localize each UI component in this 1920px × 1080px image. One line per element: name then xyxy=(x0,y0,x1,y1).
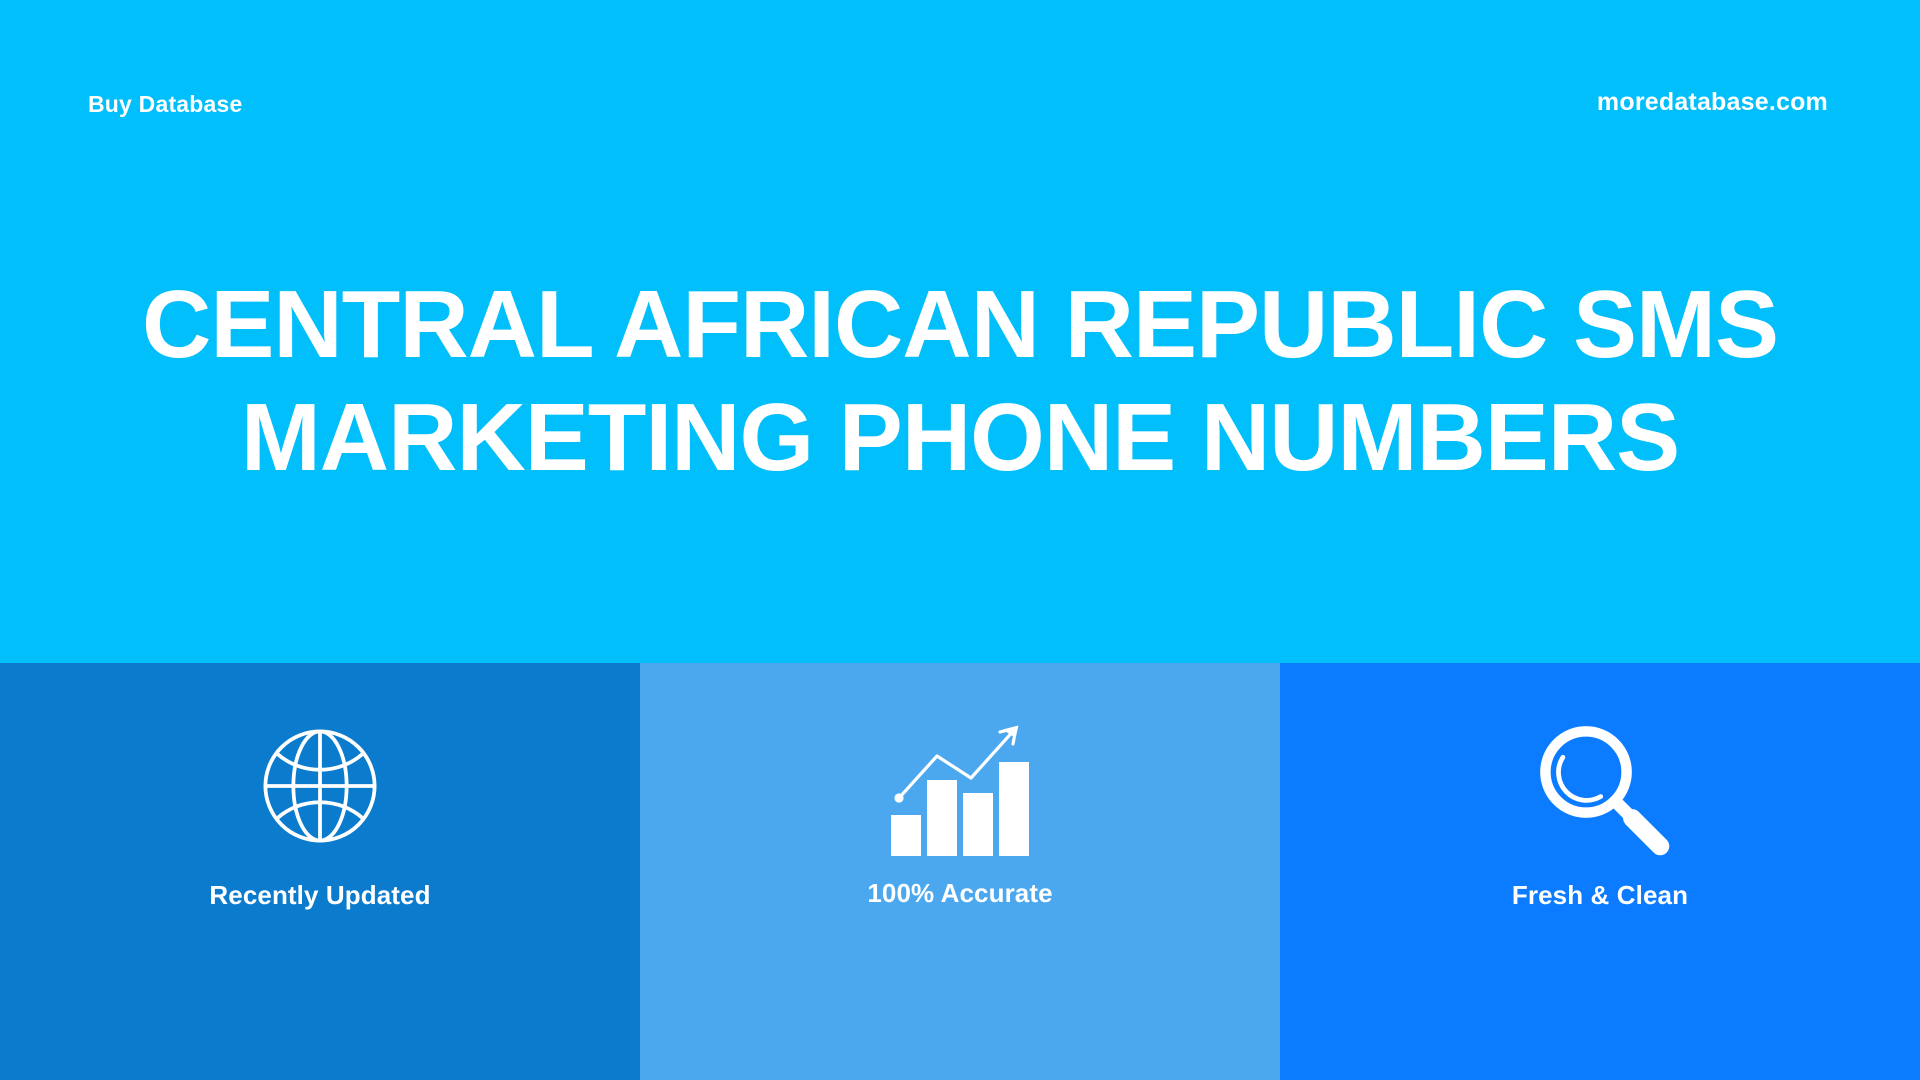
feature-panel-accurate: 100% Accurate xyxy=(640,663,1280,1080)
feature-label-accurate: 100% Accurate xyxy=(867,878,1052,909)
globe-icon xyxy=(240,716,400,856)
brand-label: Buy Database xyxy=(88,91,243,118)
feature-panel-recently-updated: Recently Updated xyxy=(0,663,640,1080)
page-title-line-2: MARKETING PHONE NUMBERS xyxy=(60,381,1860,494)
website-label: moredatabase.com xyxy=(1597,88,1828,117)
magnifier-icon xyxy=(1520,716,1680,856)
feature-panel-fresh-clean: Fresh & Clean xyxy=(1280,663,1920,1080)
page-title-line-1: CENTRAL AFRICAN REPUBLIC SMS xyxy=(60,268,1860,381)
promo-banner: Buy Database moredatabase.com CENTRAL AF… xyxy=(0,0,1920,1080)
page-title: CENTRAL AFRICAN REPUBLIC SMS MARKETING P… xyxy=(0,268,1920,494)
feature-label-recently-updated: Recently Updated xyxy=(209,880,430,911)
hero-section: Buy Database moredatabase.com CENTRAL AF… xyxy=(0,0,1920,663)
feature-strip: Recently Updated xyxy=(0,663,1920,1080)
growth-chart-icon xyxy=(880,716,1040,856)
feature-label-fresh-clean: Fresh & Clean xyxy=(1512,880,1688,911)
